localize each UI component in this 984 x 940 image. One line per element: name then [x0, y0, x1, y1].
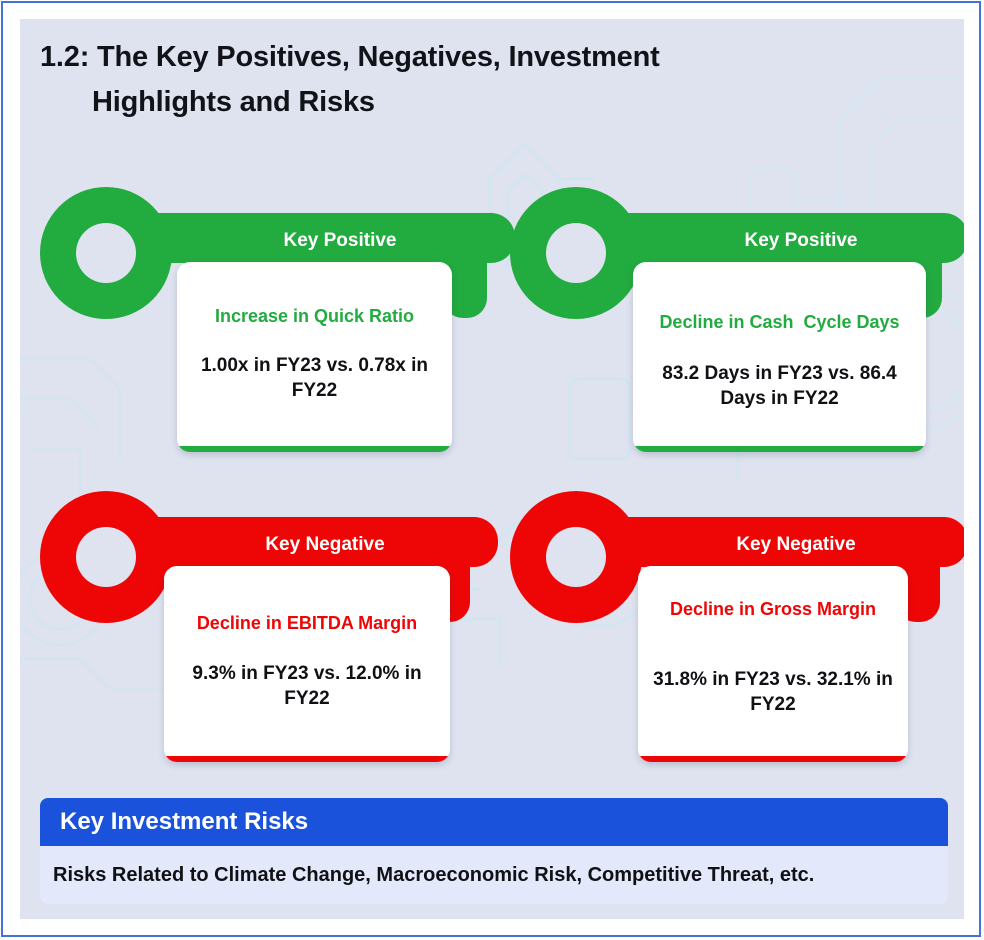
slide-frame: 1.2: The Key Positives, Negatives, Inves…: [1, 1, 981, 937]
card-accent-bar: [177, 446, 452, 452]
risks-body: Risks Related to Climate Change, Macroec…: [40, 846, 948, 904]
risks-header: Key Investment Risks: [40, 798, 948, 846]
card-value: 83.2 Days in FY23 vs. 86.4 Days in FY22: [633, 361, 926, 412]
card-box[interactable]: Decline in Gross Margin 31.8% in FY23 vs…: [638, 566, 908, 762]
key-banner-label: Key Positive: [190, 230, 490, 252]
risks-header-label: Key Investment Risks: [60, 808, 308, 836]
key-banner-label: Key Positive: [646, 230, 956, 252]
card-heading: Decline in Cash Cycle Days: [647, 311, 911, 335]
key-card-positive-quick-ratio[interactable]: Key Positive Increase in Quick Ratio 1.0…: [40, 183, 520, 459]
key-banner-label: Key Negative: [646, 534, 946, 556]
key-card-negative-gross-margin[interactable]: Key Negative Decline in Gross Margin 31.…: [510, 487, 964, 777]
key-banner-label: Key Negative: [180, 534, 470, 556]
page-title: 1.2: The Key Positives, Negatives, Inves…: [40, 35, 840, 125]
page-title-line-1: 1.2: The Key Positives, Negatives, Inves…: [40, 41, 660, 73]
card-heading: Increase in Quick Ratio: [203, 305, 426, 329]
key-card-negative-ebitda-margin[interactable]: Key Negative Decline in EBITDA Margin 9.…: [40, 487, 520, 777]
page-title-line-2: Highlights and Risks: [40, 80, 840, 125]
key-investment-risks-block: Key Investment Risks Risks Related to Cl…: [40, 798, 948, 904]
card-box[interactable]: Decline in EBITDA Margin 9.3% in FY23 vs…: [164, 566, 450, 762]
card-accent-bar: [638, 756, 908, 762]
card-heading: Decline in Gross Margin: [658, 598, 888, 622]
card-box[interactable]: Increase in Quick Ratio 1.00x in FY23 vs…: [177, 262, 452, 452]
card-value: 9.3% in FY23 vs. 12.0% in FY22: [164, 661, 450, 712]
key-card-positive-cash-cycle[interactable]: Key Positive Decline in Cash Cycle Days …: [510, 183, 964, 459]
card-value: 31.8% in FY23 vs. 32.1% in FY22: [638, 667, 908, 718]
card-box[interactable]: Decline in Cash Cycle Days 83.2 Days in …: [633, 262, 926, 452]
card-heading: Decline in EBITDA Margin: [185, 612, 429, 636]
card-accent-bar: [633, 446, 926, 452]
slide-content-panel: 1.2: The Key Positives, Negatives, Inves…: [20, 19, 964, 919]
risks-body-label: Risks Related to Climate Change, Macroec…: [53, 864, 814, 887]
card-value: 1.00x in FY23 vs. 0.78x in FY22: [177, 353, 452, 404]
card-accent-bar: [164, 756, 450, 762]
